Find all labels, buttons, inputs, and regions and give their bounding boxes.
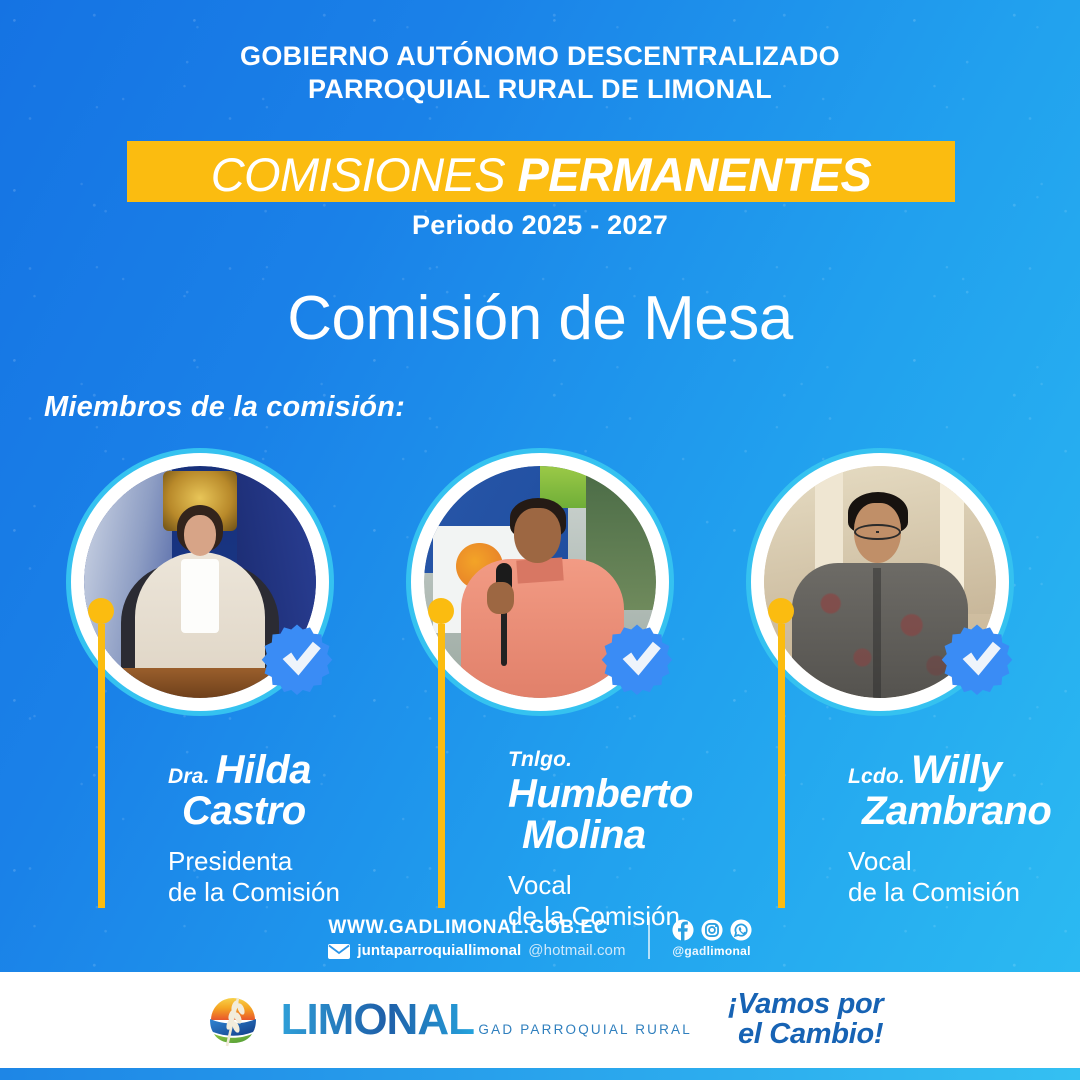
member-pretitle: Lcdo.	[848, 765, 905, 789]
member-first-name: Hilda	[216, 748, 311, 793]
verified-badge-icon	[261, 623, 333, 695]
bottom-blue-strip	[0, 1068, 1080, 1080]
member-first-name: Willy	[911, 748, 1002, 793]
member-role: Presidenta de la Comisión	[168, 846, 340, 907]
yellow-pin-marker	[768, 598, 794, 908]
member-role: Vocal de la Comisión	[848, 846, 1051, 907]
instagram-icon[interactable]	[701, 919, 723, 941]
slogan-line-1: ¡Vamos por	[728, 990, 883, 1020]
email-user: juntaparroquiallimonal	[357, 942, 521, 961]
contact-divider	[648, 917, 650, 959]
limonal-brand: LIMONAL GAD PARROQUIAL RURAL	[197, 984, 692, 1056]
member-pretitle: Tnlgo.	[508, 748, 572, 772]
verified-badge-icon	[941, 623, 1013, 695]
member-name: Dra.Hilda Castro Presidenta de la Comisi…	[168, 748, 340, 907]
member-last-name: Molina	[522, 813, 738, 858]
member-last-name: Zambrano	[862, 789, 1051, 834]
verified-badge-icon	[601, 623, 673, 695]
website-url[interactable]: WWW.GADLIMONAL.GOB.EC	[328, 916, 625, 940]
member-first-name: Humberto	[508, 772, 693, 817]
member-role-line-2: de la Comisión	[848, 877, 1051, 908]
brand-name: LIMONAL	[281, 995, 474, 1044]
member-role-line-2: de la Comisión	[168, 877, 340, 908]
yellow-pin-marker	[88, 598, 114, 908]
contact-strip: WWW.GADLIMONAL.GOB.EC juntaparroquiallim…	[0, 916, 1080, 961]
whatsapp-icon[interactable]	[730, 919, 752, 941]
envelope-icon	[328, 944, 350, 959]
member-card: Lcdo.Willy Zambrano Vocal de la Comisión	[738, 448, 1078, 716]
contact-info: WWW.GADLIMONAL.GOB.EC juntaparroquiallim…	[328, 916, 625, 961]
social-handle: @gadlimonal	[672, 944, 750, 958]
slogan: ¡Vamos por el Cambio!	[728, 990, 883, 1049]
member-pretitle: Dra.	[168, 765, 210, 789]
email-row[interactable]: juntaparroquiallimonal@hotmail.com	[328, 942, 625, 961]
social-icons	[672, 919, 752, 941]
brand-subtitle: GAD PARROQUIAL RURAL	[478, 1022, 692, 1037]
member-last-name: Castro	[182, 789, 340, 834]
slogan-line-2: el Cambio!	[738, 1020, 883, 1050]
email-domain: @hotmail.com	[528, 942, 625, 961]
footer-bar: LIMONAL GAD PARROQUIAL RURAL ¡Vamos por …	[0, 972, 1080, 1068]
member-role-line-1: Vocal	[508, 870, 738, 901]
member-name: Tnlgo.Humberto Molina Vocal de la Comisi…	[508, 748, 738, 931]
member-card: Dra.Hilda Castro Presidenta de la Comisi…	[58, 448, 398, 716]
brand-text: LIMONAL GAD PARROQUIAL RURAL	[281, 998, 692, 1042]
member-role-line-1: Presidenta	[168, 846, 340, 877]
social-block: @gadlimonal	[672, 919, 752, 958]
member-card: Tnlgo.Humberto Molina Vocal de la Comisi…	[398, 448, 738, 716]
yellow-pin-marker	[428, 598, 454, 908]
handle-suffix: limonal	[707, 944, 751, 958]
limonal-sun-wheat-logo-icon	[197, 984, 269, 1056]
handle-prefix: @gad	[672, 944, 706, 958]
member-name: Lcdo.Willy Zambrano Vocal de la Comisión	[848, 748, 1051, 907]
facebook-icon[interactable]	[672, 919, 694, 941]
member-role-line-1: Vocal	[848, 846, 1051, 877]
poster-canvas: GOBIERNO AUTÓNOMO DESCENTRALIZADO PARROQ…	[0, 0, 1080, 1080]
